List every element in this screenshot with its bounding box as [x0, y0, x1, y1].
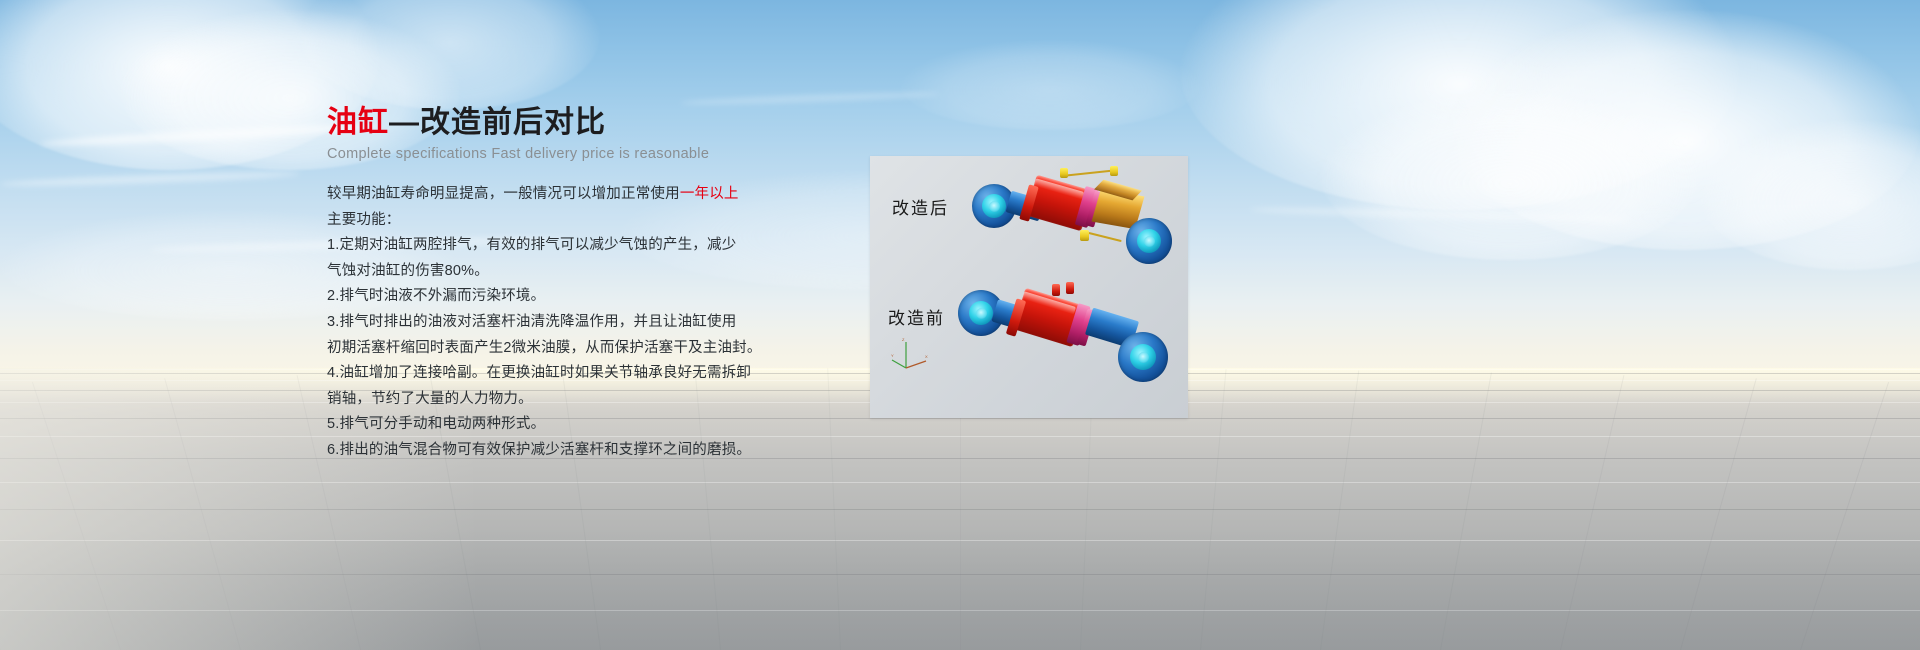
vent-tube-lower: [1088, 232, 1121, 242]
page-subtitle: Complete specifications Fast delivery pr…: [327, 146, 847, 162]
coordinate-axis-icon: Z X Y: [890, 336, 930, 372]
vent-tube: [1064, 169, 1116, 176]
cap-eye-right-bore: [1138, 352, 1149, 363]
cloud-shape: [900, 40, 1200, 130]
svg-text:X: X: [925, 354, 928, 359]
label-after-modification: 改造后: [892, 194, 949, 219]
product-image-panel: 改造后 改造前 Z X Y: [870, 156, 1188, 418]
feature-line: 气蚀对油缸的伤害80%。: [327, 259, 847, 285]
cylinder-after-modification: [968, 166, 1184, 278]
feature-line: 主要功能：: [327, 208, 847, 234]
cloud-streak: [0, 170, 300, 188]
feature-line: 1.定期对油缸两腔排气，有效的排气可以减少气蚀的产生，减少: [327, 233, 847, 259]
cloud-shape: [1320, 90, 1700, 260]
feature-line: 销轴，节约了大量的人力物力。: [327, 387, 847, 413]
title-highlight: 油缸: [327, 106, 389, 139]
feature-list: 较早期油缸寿命明显提高，一般情况可以增加正常使用一年以上主要功能：1.定期对油缸…: [327, 182, 847, 464]
feature-line: 初期活塞杆缩回时表面产生2微米油膜，从而保护活塞干及主油封。: [327, 336, 847, 362]
feature-line: 4.油缸增加了连接哈副。在更换油缸时如果关节轴承良好无需拆卸: [327, 361, 847, 387]
svg-text:Z: Z: [902, 337, 905, 342]
feature-line: 2.排气时油液不外漏而污染环境。: [327, 284, 847, 310]
rear-port-fitting: [1052, 284, 1060, 296]
rod-eye-left-bore: [976, 308, 987, 319]
vent-valve-lower: [1080, 230, 1089, 241]
feature-line-text: 主要功能：: [327, 212, 401, 228]
hero-banner: 油缸—改造前后对比 Complete specifications Fast d…: [0, 0, 1920, 650]
title-rest: —改造前后对比: [389, 106, 606, 139]
feature-line: 较早期油缸寿命明显提高，一般情况可以增加正常使用一年以上: [327, 182, 847, 208]
feature-line-text: 3.排气时排出的油液对活塞杆油清洗降温作用，并且让油缸使用: [327, 314, 736, 330]
feature-line: 5.排气可分手动和电动两种形式。: [327, 412, 847, 438]
feature-line-text: 5.排气可分手动和电动两种形式。: [327, 416, 545, 432]
cylinder-before-modification: [956, 282, 1186, 398]
feature-line-text: 6.排出的油气混合物可有效保护减少活塞杆和支撑环之间的磨损。: [327, 442, 751, 458]
feature-line-text: 销轴，节约了大量的人力物力。: [327, 391, 533, 407]
vent-valve-left: [1060, 168, 1068, 178]
rod-eye-left-bore: [989, 201, 1000, 212]
page-title: 油缸—改造前后对比: [327, 104, 847, 142]
banner-text-block: 油缸—改造前后对比 Complete specifications Fast d…: [327, 104, 847, 464]
feature-line: 3.排气时排出的油液对活塞杆油清洗降温作用，并且让油缸使用: [327, 310, 847, 336]
feature-line-text: 4.油缸增加了连接哈副。在更换油缸时如果关节轴承良好无需拆卸: [327, 365, 751, 381]
feature-line-text: 2.排气时油液不外漏而污染环境。: [327, 288, 545, 304]
svg-text:Y: Y: [891, 353, 894, 358]
vent-valve-right: [1110, 166, 1118, 176]
feature-line-text: 气蚀对油缸的伤害80%。: [327, 263, 489, 279]
feature-line-text: 初期活塞杆缩回时表面产生2微米油膜，从而保护活塞干及主油封。: [327, 340, 762, 356]
rear-port-fitting-2: [1066, 282, 1074, 294]
feature-line-text: 1.定期对油缸两腔排气，有效的排气可以减少气蚀的产生，减少: [327, 237, 736, 253]
label-before-modification: 改造前: [888, 304, 945, 329]
feature-line: 6.排出的油气混合物可有效保护减少活塞杆和支撑环之间的磨损。: [327, 438, 847, 464]
cap-eye-right-bore: [1144, 236, 1155, 247]
feature-line-text: 较早期油缸寿命明显提高，一般情况可以增加正常使用: [327, 186, 680, 202]
feature-line-highlight: 一年以上: [680, 186, 739, 202]
